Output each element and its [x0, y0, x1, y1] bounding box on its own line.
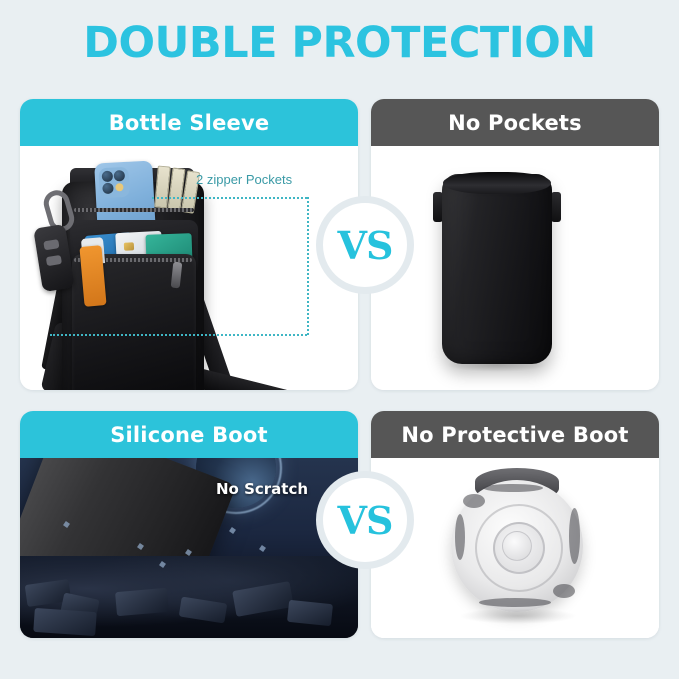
panel-no-protective-boot: No Protective Boot — [371, 411, 659, 638]
annotation-line-bottom — [50, 334, 307, 336]
bottle-drop-shadow — [459, 608, 577, 624]
debris-shard — [259, 545, 266, 552]
sleeve-opening — [443, 172, 551, 194]
rock — [232, 581, 294, 617]
plain-bottle-sleeve — [442, 174, 552, 364]
vs-badge-bottom: VS — [316, 471, 414, 569]
rocky-ground — [20, 556, 358, 638]
annotation-line-top — [152, 197, 307, 199]
panel-no-pockets: No Pockets — [371, 99, 659, 390]
vs-label: VS — [338, 498, 393, 543]
scratched-bottle-base-image — [371, 458, 659, 638]
vs-label: VS — [338, 223, 393, 268]
camera-lens-icon — [102, 171, 114, 183]
scuff-mark — [483, 484, 543, 492]
panel-body-no-protective-boot — [371, 458, 659, 638]
card-chip-icon — [124, 242, 134, 251]
key-button — [46, 255, 62, 266]
panel-header-bottle-sleeve: Bottle Sleeve — [20, 99, 358, 146]
key-button — [43, 239, 59, 250]
panel-header-no-pockets: No Pockets — [371, 99, 659, 146]
camera-lens-icon — [102, 183, 114, 195]
bottle-base-center-nub — [502, 531, 532, 561]
panel-header-no-protective-boot: No Protective Boot — [371, 411, 659, 458]
scuff-mark — [463, 494, 485, 508]
panel-body-bottle-sleeve: 2 zipper Pockets — [20, 146, 358, 390]
panel-silicone-boot: Silicone Boot No Scratch — [20, 411, 358, 638]
scuff-mark — [455, 514, 465, 560]
silicone-boot-impact-image: No Scratch — [20, 458, 358, 638]
panel-body-silicone-boot: No Scratch — [20, 458, 358, 638]
vs-badge-top: VS — [316, 196, 414, 294]
annotation-zipper-pockets: 2 zipper Pockets — [196, 172, 292, 187]
rock — [115, 588, 169, 616]
phone-camera-module — [98, 167, 130, 199]
rock — [179, 597, 228, 624]
camera-lens-icon — [114, 170, 126, 182]
scuff-mark — [479, 598, 551, 607]
debris-shard — [229, 527, 236, 534]
zipper-track-upper — [74, 208, 194, 212]
panel-bottle-sleeve: Bottle Sleeve — [20, 99, 358, 390]
strap-clip-right — [551, 192, 561, 222]
camera-flash-icon — [115, 183, 123, 191]
sleeve-drop-shadow — [447, 358, 547, 372]
panel-body-no-pockets — [371, 146, 659, 390]
page-title: DOUBLE PROTECTION — [0, 18, 679, 68]
annotation-no-scratch: No Scratch — [216, 480, 308, 498]
annotation-line-vertical — [307, 197, 309, 335]
scuff-mark — [569, 508, 580, 564]
bottle-sleeve-bag-image: 2 zipper Pockets — [20, 146, 358, 390]
rock — [33, 608, 97, 636]
panel-header-silicone-boot: Silicone Boot — [20, 411, 358, 458]
scuff-mark — [553, 584, 575, 598]
rock — [287, 600, 333, 626]
